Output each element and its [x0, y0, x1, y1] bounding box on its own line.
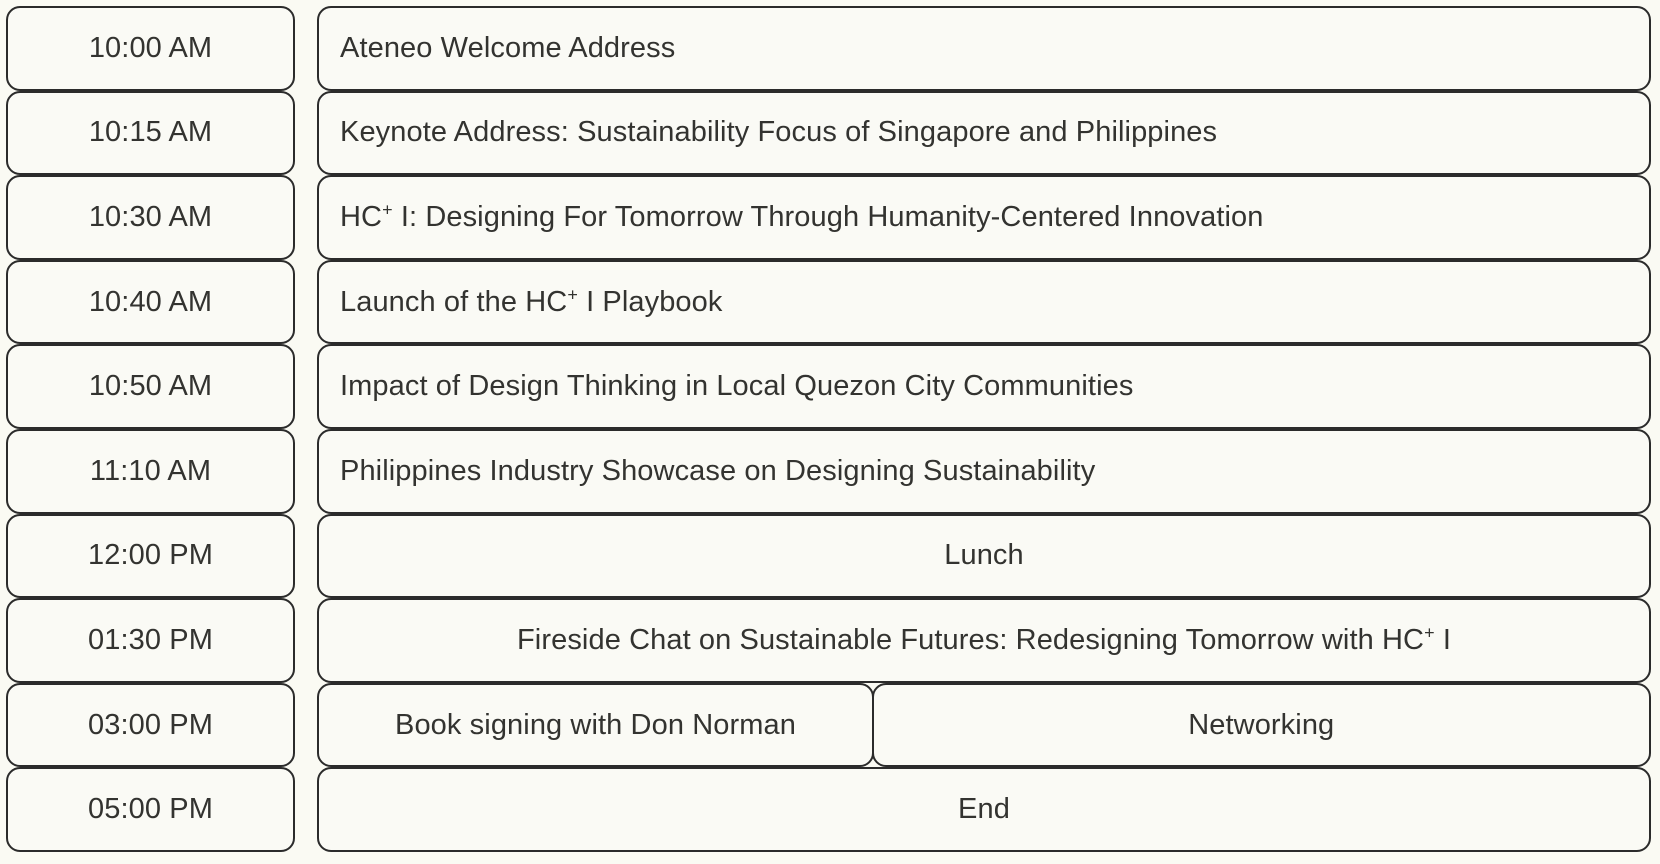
- schedule-row: 11:10 AMPhilippines Industry Showcase on…: [6, 429, 1651, 514]
- time-label: 10:40 AM: [89, 286, 212, 319]
- schedule-row: 10:50 AMImpact of Design Thinking in Loc…: [6, 344, 1651, 429]
- session-label: Book signing with Don Norman: [331, 709, 860, 742]
- time-label: 12:00 PM: [88, 539, 213, 572]
- time-label: 03:00 PM: [88, 709, 213, 742]
- schedule-row: 10:30 AMHC+ I: Designing For Tomorrow Th…: [6, 175, 1651, 260]
- time-label: 10:00 AM: [89, 32, 212, 65]
- time-cell[interactable]: 10:50 AM: [6, 344, 295, 429]
- session-label: Fireside Chat on Sustainable Futures: Re…: [331, 624, 1637, 657]
- time-cell[interactable]: 03:00 PM: [6, 683, 295, 768]
- time-label: 10:50 AM: [89, 370, 212, 403]
- time-label: 01:30 PM: [88, 624, 213, 657]
- session-cell[interactable]: Philippines Industry Showcase on Designi…: [317, 429, 1651, 514]
- time-cell[interactable]: 12:00 PM: [6, 514, 295, 599]
- schedule-row: 12:00 PMLunch: [6, 514, 1651, 599]
- session-column: Ateneo Welcome Address: [317, 6, 1651, 91]
- session-column: Impact of Design Thinking in Local Quezo…: [317, 344, 1651, 429]
- time-cell[interactable]: 11:10 AM: [6, 429, 295, 514]
- session-cell[interactable]: End: [317, 767, 1651, 852]
- session-column: End: [317, 767, 1651, 852]
- session-column: Philippines Industry Showcase on Designi…: [317, 429, 1651, 514]
- time-label: 11:10 AM: [90, 455, 211, 488]
- time-cell[interactable]: 10:15 AM: [6, 91, 295, 176]
- session-label: Networking: [886, 709, 1638, 742]
- session-label: Philippines Industry Showcase on Designi…: [340, 455, 1637, 488]
- session-cell[interactable]: Lunch: [317, 514, 1651, 599]
- time-cell[interactable]: 10:00 AM: [6, 6, 295, 91]
- session-cell[interactable]: Keynote Address: Sustainability Focus of…: [317, 91, 1651, 176]
- time-cell[interactable]: 05:00 PM: [6, 767, 295, 852]
- session-cell[interactable]: Ateneo Welcome Address: [317, 6, 1651, 91]
- schedule-row: 01:30 PMFireside Chat on Sustainable Fut…: [6, 598, 1651, 683]
- session-cell[interactable]: HC+ I: Designing For Tomorrow Through Hu…: [317, 175, 1651, 260]
- schedule-row: 10:00 AMAteneo Welcome Address: [6, 6, 1651, 91]
- session-cell[interactable]: Networking: [872, 683, 1652, 768]
- session-label: Ateneo Welcome Address: [340, 32, 1637, 65]
- session-column: Lunch: [317, 514, 1651, 599]
- session-label: End: [331, 793, 1637, 826]
- time-cell[interactable]: 01:30 PM: [6, 598, 295, 683]
- session-cell[interactable]: Impact of Design Thinking in Local Quezo…: [317, 344, 1651, 429]
- schedule-row: 10:15 AMKeynote Address: Sustainability …: [6, 91, 1651, 176]
- session-column: HC+ I: Designing For Tomorrow Through Hu…: [317, 175, 1651, 260]
- time-cell[interactable]: 10:40 AM: [6, 260, 295, 345]
- time-label: 05:00 PM: [88, 793, 213, 826]
- time-cell[interactable]: 10:30 AM: [6, 175, 295, 260]
- schedule-table: 10:00 AMAteneo Welcome Address10:15 AMKe…: [0, 0, 1660, 864]
- session-label: Launch of the HC+ I Playbook: [340, 286, 1637, 319]
- session-label: Impact of Design Thinking in Local Quezo…: [340, 370, 1637, 403]
- time-label: 10:15 AM: [89, 116, 212, 149]
- session-column: Launch of the HC+ I Playbook: [317, 260, 1651, 345]
- schedule-row: 10:40 AMLaunch of the HC+ I Playbook: [6, 260, 1651, 345]
- session-column: Keynote Address: Sustainability Focus of…: [317, 91, 1651, 176]
- session-cell[interactable]: Launch of the HC+ I Playbook: [317, 260, 1651, 345]
- session-column: Book signing with Don NormanNetworking: [317, 683, 1651, 768]
- schedule-row: 03:00 PMBook signing with Don NormanNetw…: [6, 683, 1651, 768]
- session-label: Keynote Address: Sustainability Focus of…: [340, 116, 1637, 149]
- time-label: 10:30 AM: [89, 201, 212, 234]
- session-label: Lunch: [331, 539, 1637, 572]
- schedule-row: 05:00 PMEnd: [6, 767, 1651, 852]
- session-label: HC+ I: Designing For Tomorrow Through Hu…: [340, 201, 1637, 234]
- session-column: Fireside Chat on Sustainable Futures: Re…: [317, 598, 1651, 683]
- session-cell[interactable]: Book signing with Don Norman: [317, 683, 874, 768]
- session-cell[interactable]: Fireside Chat on Sustainable Futures: Re…: [317, 598, 1651, 683]
